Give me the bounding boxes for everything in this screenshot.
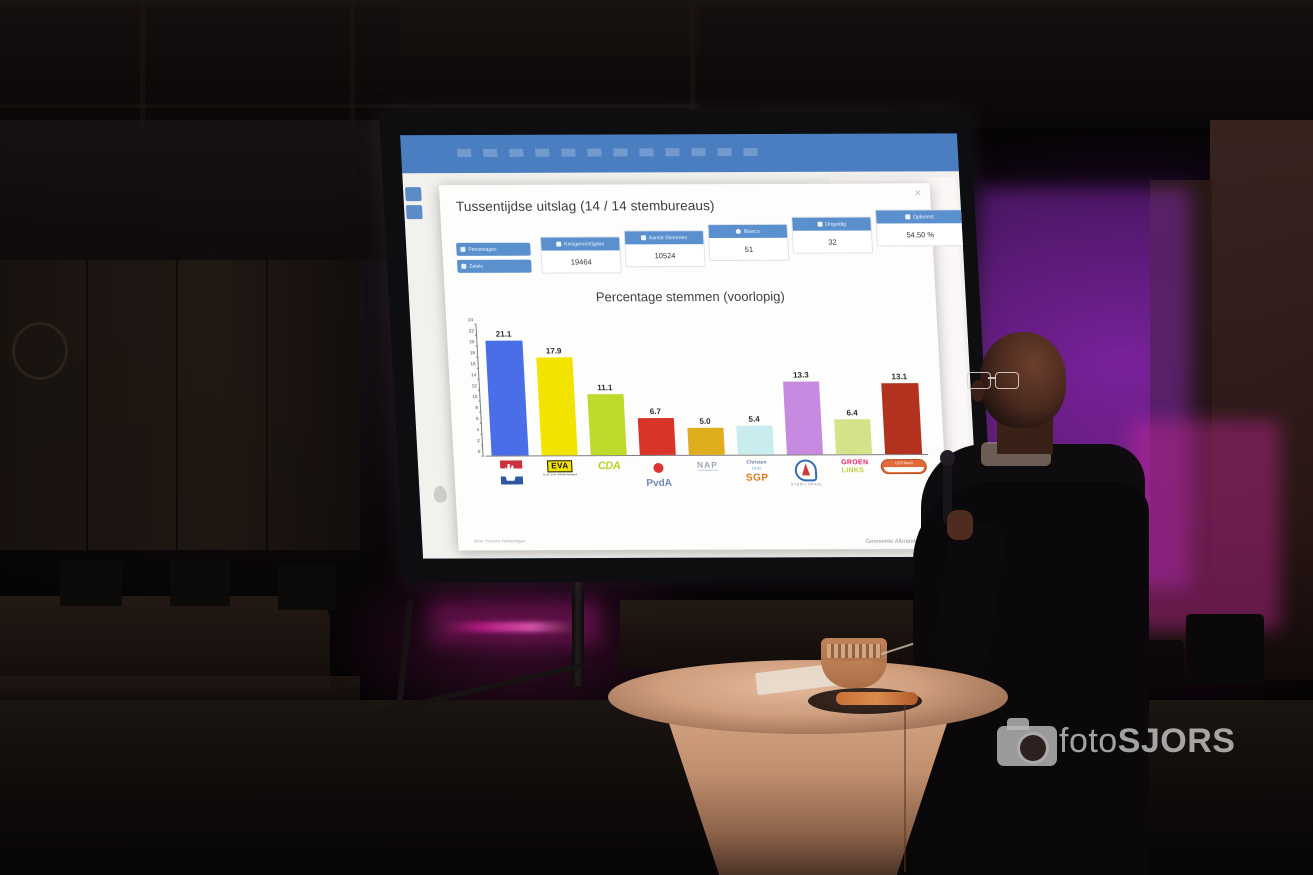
source-note: Bron: Procura Verkiezingen [474, 538, 525, 543]
y-tick-label: 12 [472, 383, 477, 388]
christenunie-sgp-logo: ChristenUnie [746, 460, 767, 472]
y-tick-mark [479, 401, 481, 402]
wall-panel-left [0, 250, 360, 550]
bar-value-label: 13.3 [793, 371, 809, 380]
y-tick-label: 8 [475, 405, 478, 410]
chair [60, 560, 122, 606]
stat-label: Blanco [744, 228, 760, 234]
y-tick-label: 22 [469, 328, 474, 333]
y-tick-mark [482, 456, 484, 457]
y-tick-mark [476, 357, 478, 358]
bar[interactable] [834, 419, 872, 454]
projection-screen: Poortugaal 14 14 × Tussentijdse uitslag … [379, 111, 995, 582]
pvda-logo: PvdA [645, 460, 672, 489]
y-tick-mark [480, 434, 482, 435]
stat-value: 54,50 % [877, 223, 964, 245]
modal-title: Tussentijdse uitslag (14 / 14 stembureau… [456, 198, 715, 214]
y-tick-label: 4 [476, 427, 479, 432]
y-tick-label: 10 [472, 394, 477, 399]
bar[interactable] [687, 427, 725, 454]
bar-value-label: 21.1 [496, 329, 512, 338]
bar-slot[interactable]: 17.9 [528, 324, 584, 455]
y-tick-label: 16 [470, 361, 475, 366]
y-tick-label: 6 [476, 416, 479, 421]
bar-slot[interactable]: 21.1 [478, 325, 534, 456]
map-pin-icon [433, 486, 447, 503]
bar-slot[interactable]: 6.4 [823, 323, 879, 454]
bar-value-label: 17.9 [546, 347, 562, 356]
plot-area: 21.117.911.16.75.05.413.36.413.1 [478, 323, 928, 456]
party-logo-cell[interactable]: EVAEcht Voor Albrandswaard [535, 460, 586, 498]
y-tick-label: 24 [468, 317, 473, 322]
y-tick-mark [480, 423, 482, 424]
stat-label: Aantal Stemmen [649, 235, 688, 241]
microphone-head [940, 450, 955, 466]
party-logo-cell[interactable]: CDA [584, 460, 635, 498]
circle-icon [736, 229, 741, 234]
stat-kiesgerechtigden[interactable]: Kiesgerechtigden 19464 [540, 236, 622, 273]
stat-value: 19464 [542, 250, 621, 272]
sgp-logo: SGP [746, 473, 769, 484]
app-topbar-menu[interactable] [457, 148, 758, 157]
bar-value-label: 6.4 [846, 408, 858, 417]
toggle-percentages[interactable]: Percentages [456, 243, 531, 256]
y-tick-mark [479, 412, 481, 413]
eva-logo: EVA [547, 460, 573, 472]
stat-blanco[interactable]: Blanco 51 [707, 224, 789, 261]
view-toggle-group: Percentages Zetels [456, 243, 532, 277]
bar-value-label: 5.4 [748, 414, 760, 423]
stats-row: Percentages Zetels Kiesgerechtigden 1946… [455, 219, 923, 283]
chair [278, 566, 336, 610]
cda-logo: CDA [598, 460, 621, 472]
y-tick-mark [481, 445, 483, 446]
checkbox-icon [641, 235, 646, 240]
stat-value: 32 [793, 231, 872, 253]
stem-lokaal-label: STEM-LOKAAL [791, 482, 823, 486]
close-icon[interactable]: × [914, 188, 921, 199]
bar[interactable] [638, 418, 676, 455]
led-strip-light [428, 622, 576, 632]
watermark-brand-light: foto [1059, 722, 1118, 760]
wall-panel-upper-left [0, 120, 392, 260]
bar-slot[interactable]: 11.1 [577, 324, 633, 455]
y-tick-label: 20 [469, 339, 474, 344]
cross-icon [817, 222, 822, 227]
results-modal: × Tussentijdse uitslag (14 / 14 stembure… [439, 183, 949, 550]
y-tick-label: 2 [477, 438, 480, 443]
stat-label: Opkomst [913, 214, 934, 220]
party-logo-cell[interactable]: PvdA [633, 460, 684, 498]
stat-value: 10524 [625, 244, 704, 266]
stat-aantal-stemmen[interactable]: Aantal Stemmen 10524 [624, 230, 706, 267]
app-side-tab[interactable] [405, 187, 422, 201]
camera-icon [995, 712, 1061, 770]
y-tick-label: 14 [471, 372, 476, 377]
y-tick-mark [477, 379, 479, 380]
app-topbar [400, 133, 959, 173]
toggle-label: Percentages [468, 246, 496, 252]
stat-label: Kiesgerechtigden [564, 241, 604, 247]
screen-surface: Poortugaal 14 14 × Tussentijdse uitslag … [400, 133, 980, 558]
party-logo-cell[interactable]: NAP [683, 460, 734, 498]
bar[interactable] [736, 425, 774, 455]
stem-lokaal-logo [794, 459, 817, 481]
y-tick-mark [477, 368, 479, 369]
y-tick-mark [478, 390, 480, 391]
stat-opkomst[interactable]: Opkomst 54,50 % [875, 209, 965, 246]
party-logo-cell[interactable] [486, 460, 537, 498]
cocktail-table [608, 660, 1008, 875]
bar[interactable] [783, 382, 823, 455]
y-tick-label: 18 [470, 350, 475, 355]
toggle-zetels[interactable]: Zetels [457, 260, 532, 273]
bar-chart: 024681012141618202224 21.117.911.16.75.0… [460, 323, 928, 456]
table-cloth-fold [904, 704, 906, 872]
stat-value: 51 [709, 238, 788, 260]
watermark: fotoSJORS [995, 706, 1211, 780]
snack-bowl [821, 638, 887, 688]
eva-logo-sub: Echt Voor Albrandswaard [543, 473, 577, 476]
bar-slot[interactable]: 6.7 [626, 324, 682, 455]
bar-slot[interactable]: 13.3 [774, 324, 830, 455]
y-tick-mark [474, 324, 476, 325]
chair [170, 558, 230, 606]
toggle-label: Zetels [469, 263, 483, 269]
glasses-icon [967, 372, 1021, 387]
party-logo-cell[interactable]: STEM-LOKAAL [781, 459, 832, 497]
app-side-tab[interactable] [406, 205, 423, 219]
photo-scene: Poortugaal 14 14 × Tussentijdse uitslag … [0, 0, 1313, 875]
chart-title: Percentage stemmen (voorlopig) [445, 288, 936, 305]
nap-logo: NAP [697, 460, 719, 471]
party-logo-cell[interactable]: ChristenUnieSGP [732, 460, 783, 498]
chair [1186, 614, 1264, 684]
y-tick-label: 0 [478, 449, 481, 454]
ceiling [0, 0, 1313, 128]
wall-ring-decor [12, 322, 68, 380]
bar-value-label: 11.1 [597, 384, 613, 393]
groenlinks-logo: GROENLINKS [841, 459, 869, 474]
bar-slot[interactable]: 5.4 [724, 324, 780, 455]
bar-slot[interactable]: 5.0 [675, 324, 731, 455]
bar[interactable] [587, 395, 627, 456]
party-logos-row: EVAEcht Voor AlbrandswaardCDAPvdANAPChri… [486, 459, 931, 498]
y-tick-mark [476, 346, 478, 347]
percent-icon [905, 214, 910, 219]
checkbox-icon [461, 264, 466, 269]
bar-value-label: 6.7 [650, 407, 662, 416]
presenter-hand [947, 510, 973, 540]
party-logo-cell[interactable]: GROENLINKS [830, 459, 881, 497]
bar[interactable] [536, 358, 578, 456]
y-tick-mark [475, 335, 477, 336]
stat-ongeldig[interactable]: Ongeldig 32 [791, 217, 873, 254]
checkbox-icon [460, 247, 465, 252]
stat-label: Ongeldig [825, 221, 846, 227]
hand-flag-logo [499, 460, 522, 484]
watermark-brand-bold: SJORS [1118, 722, 1236, 760]
bar-value-label: 5.0 [699, 417, 711, 426]
bar[interactable] [486, 340, 529, 455]
people-icon [556, 242, 561, 247]
watermark-text: fotoSJORS [1059, 722, 1235, 761]
